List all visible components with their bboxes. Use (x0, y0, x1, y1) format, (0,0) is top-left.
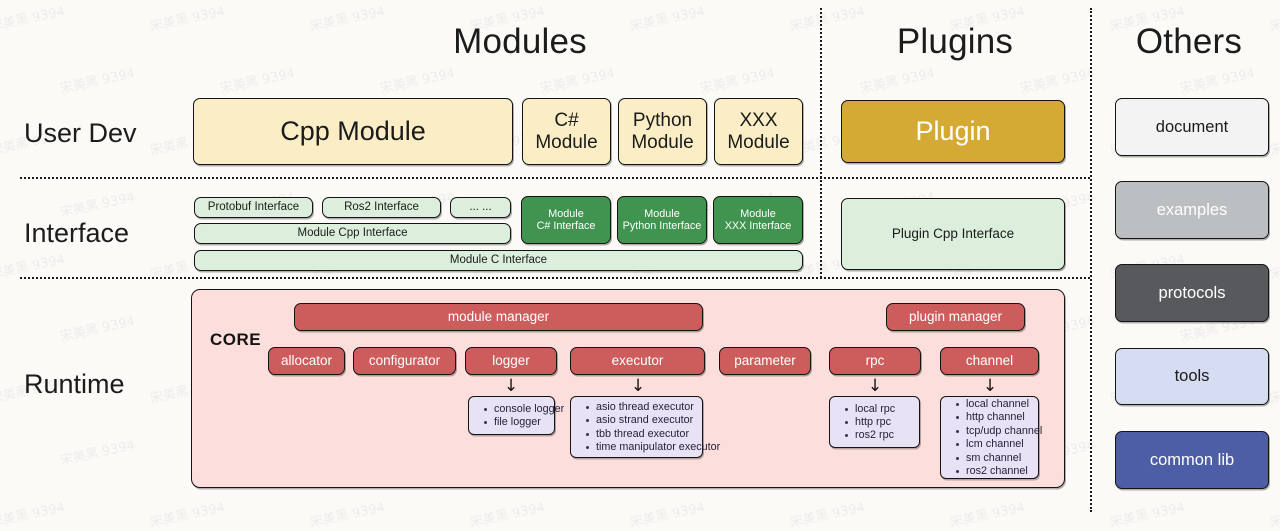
box-cpp-module[interactable]: Cpp Module (193, 98, 513, 165)
box-module-csharp-interface[interactable]: Module C# Interface (521, 196, 611, 244)
box-module-python-interface-line2: Python Interface (623, 220, 702, 232)
box-others-tools-label: tools (1175, 367, 1210, 386)
box-others-document-label: document (1156, 118, 1228, 137)
box-others-document[interactable]: document (1115, 98, 1269, 156)
box-component-executor-label: executor (612, 353, 664, 369)
watermark-text: 宋美黑 9394 (948, 496, 1027, 530)
box-others-common-lib[interactable]: common lib (1115, 431, 1269, 489)
box-component-parameter[interactable]: parameter (719, 347, 811, 375)
box-cpp-module-label: Cpp Module (280, 116, 426, 147)
watermark-text: 宋美黑 9394 (218, 62, 297, 96)
box-component-rpc-label: rpc (866, 353, 885, 369)
divider-userdev-interface (20, 177, 1090, 179)
box-csharp-module-line1: C# (554, 110, 578, 132)
row-label-runtime: Runtime (24, 369, 125, 400)
column-title-modules: Modules (330, 22, 710, 62)
box-module-python-interface-line1: Module (644, 208, 679, 220)
box-module-manager[interactable]: module manager (294, 303, 703, 331)
box-plugin[interactable]: Plugin (841, 100, 1065, 163)
executor-list-item: time manipulator executor (586, 441, 717, 453)
box-plugin-label: Plugin (915, 116, 990, 147)
box-module-xxx-interface[interactable]: Module XXX Interface (713, 196, 803, 244)
watermark-text: 宋美黑 9394 (148, 496, 227, 530)
channel-list-item: tcp/udp channel (956, 425, 1042, 437)
watermark-text: 宋美黑 9394 (308, 496, 387, 530)
channel-list-item: http channel (956, 411, 1042, 423)
rpc-item-list: local rpchttp rpcros2 rpc (830, 401, 919, 443)
box-component-rpc[interactable]: rpc (829, 347, 921, 375)
box-ellipsis-interface[interactable]: ... ... (450, 197, 511, 218)
box-component-logger[interactable]: logger (465, 347, 557, 375)
watermark-text: 宋美黑 9394 (1268, 124, 1280, 158)
channel-list-item: sm channel (956, 452, 1042, 464)
box-component-allocator-label: allocator (281, 353, 332, 369)
watermark-text: 宋美黑 9394 (1178, 62, 1257, 96)
row-label-user-dev: User Dev (24, 118, 137, 149)
box-module-manager-label: module manager (448, 309, 549, 325)
executor-list-item: asio strand executor (586, 414, 717, 426)
watermark-text: 宋美黑 9394 (538, 62, 617, 96)
rpc-list-item: ros2 rpc (845, 429, 919, 441)
box-xxx-module-line2: Module (727, 132, 789, 154)
detail-logger-list: console loggerfile logger (468, 396, 555, 435)
divider-plugins-others (1090, 8, 1092, 512)
box-protobuf-interface-label: Protobuf Interface (208, 201, 299, 214)
box-ros2-interface[interactable]: Ros2 Interface (322, 197, 441, 218)
box-plugin-manager[interactable]: plugin manager (886, 303, 1025, 331)
watermark-text: 宋美黑 9394 (378, 62, 457, 96)
watermark-text: 宋美黑 9394 (58, 310, 137, 344)
executor-list-item: tbb thread executor (586, 428, 717, 440)
watermark-text: 宋美黑 9394 (788, 496, 867, 530)
box-component-allocator[interactable]: allocator (268, 347, 345, 375)
rpc-list-item: http rpc (845, 416, 919, 428)
watermark-text: 宋美黑 9394 (58, 62, 137, 96)
detail-rpc-list: local rpchttp rpcros2 rpc (829, 396, 920, 448)
watermark-text: 宋美黑 9394 (468, 496, 547, 530)
box-others-tools[interactable]: tools (1115, 348, 1269, 405)
arrow-rpc-down: ↓ (865, 378, 885, 395)
box-others-examples[interactable]: examples (1115, 181, 1269, 239)
box-protobuf-interface[interactable]: Protobuf Interface (194, 197, 313, 218)
watermark-text: 宋美黑 9394 (1268, 248, 1280, 282)
arrow-logger-down: ↓ (501, 378, 521, 395)
column-title-others: Others (1105, 22, 1273, 62)
box-xxx-module-line1: XXX (739, 110, 777, 132)
logger-item-list: console loggerfile logger (469, 401, 564, 429)
watermark-text: 宋美黑 9394 (0, 496, 66, 530)
core-label: CORE (210, 330, 261, 350)
box-component-channel[interactable]: channel (940, 347, 1039, 375)
watermark-text: 宋美黑 9394 (1268, 496, 1280, 530)
box-xxx-module[interactable]: XXX Module (714, 98, 803, 165)
box-plugin-cpp-interface[interactable]: Plugin Cpp Interface (841, 198, 1065, 270)
watermark-text: 宋美黑 9394 (58, 186, 137, 220)
watermark-text: 宋美黑 9394 (698, 62, 777, 96)
watermark-text: 宋美黑 9394 (148, 0, 227, 34)
box-component-channel-label: channel (966, 353, 1013, 369)
box-module-cpp-interface-label: Module Cpp Interface (298, 227, 408, 240)
box-others-protocols-label: protocols (1159, 284, 1226, 303)
box-module-c-interface-label: Module C Interface (450, 254, 547, 267)
channel-list-item: local channel (956, 398, 1042, 410)
rpc-list-item: local rpc (845, 403, 919, 415)
box-csharp-module-line2: Module (535, 132, 597, 154)
channel-list-item: lcm channel (956, 438, 1042, 450)
watermark-text: 宋美黑 9394 (1018, 62, 1097, 96)
divider-interface-runtime (20, 277, 1090, 279)
box-component-configurator[interactable]: configurator (353, 347, 456, 375)
box-module-xxx-interface-line2: XXX Interface (725, 220, 792, 232)
box-component-parameter-label: parameter (734, 353, 796, 369)
diagram-canvas: 宋美黑 9394宋美黑 9394宋美黑 9394宋美黑 9394宋美黑 9394… (0, 0, 1280, 519)
divider-modules-plugins (820, 8, 822, 278)
box-plugin-manager-label: plugin manager (909, 309, 1002, 325)
watermark-text: 宋美黑 9394 (1108, 496, 1187, 530)
box-python-module-line2: Module (631, 132, 693, 154)
box-others-protocols[interactable]: protocols (1115, 264, 1269, 322)
box-others-examples-label: examples (1157, 201, 1228, 220)
box-ros2-interface-label: Ros2 Interface (344, 201, 419, 214)
channel-list-item: ros2 channel (956, 465, 1042, 477)
box-module-python-interface[interactable]: Module Python Interface (617, 196, 707, 244)
executor-list-item: asio thread executor (586, 401, 717, 413)
box-module-cpp-interface[interactable]: Module Cpp Interface (194, 223, 511, 244)
box-component-executor[interactable]: executor (570, 347, 705, 375)
box-module-csharp-interface-line2: C# Interface (537, 220, 596, 232)
detail-executor-list: asio thread executorasio strand executor… (570, 396, 703, 458)
box-module-c-interface[interactable]: Module C Interface (194, 250, 803, 271)
executor-item-list: asio thread executorasio strand executor… (571, 400, 717, 455)
logger-list-item: console logger (484, 403, 564, 415)
box-component-configurator-label: configurator (369, 353, 440, 369)
watermark-text: 宋美黑 9394 (1268, 372, 1280, 406)
box-others-common-lib-label: common lib (1150, 451, 1234, 470)
arrow-executor-down: ↓ (628, 378, 648, 395)
box-module-xxx-interface-line1: Module (740, 208, 775, 220)
box-component-logger-label: logger (492, 353, 530, 369)
logger-list-item: file logger (484, 416, 564, 428)
box-module-csharp-interface-line1: Module (548, 208, 583, 220)
box-csharp-module[interactable]: C# Module (522, 98, 611, 165)
box-ellipsis-interface-label: ... ... (469, 201, 491, 214)
box-python-module-line1: Python (633, 110, 692, 132)
watermark-text: 宋美黑 9394 (858, 62, 937, 96)
box-plugin-cpp-interface-label: Plugin Cpp Interface (892, 226, 1014, 242)
arrow-channel-down: ↓ (980, 378, 1000, 395)
detail-channel-list: local channelhttp channeltcp/udp channel… (940, 396, 1039, 479)
box-python-module[interactable]: Python Module (618, 98, 707, 165)
column-title-plugins: Plugins (830, 22, 1080, 62)
row-label-interface: Interface (24, 218, 129, 249)
channel-item-list: local channelhttp channeltcp/udp channel… (941, 397, 1042, 479)
watermark-text: 宋美黑 9394 (628, 496, 707, 530)
watermark-text: 宋美黑 9394 (0, 0, 66, 34)
watermark-text: 宋美黑 9394 (58, 434, 137, 468)
